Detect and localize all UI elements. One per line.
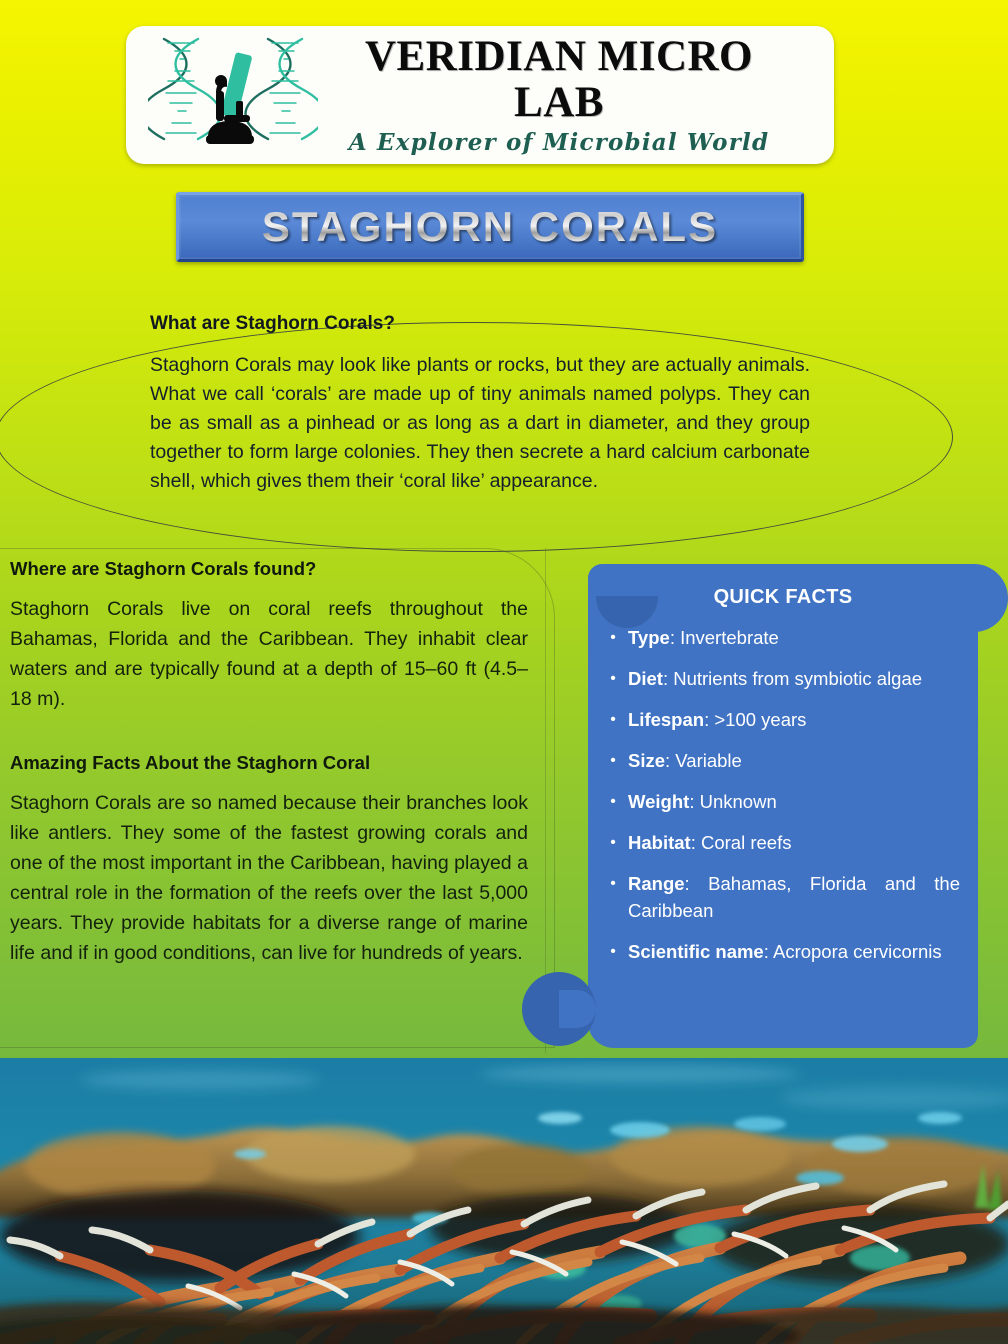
quick-fact-label: Scientific name (628, 941, 764, 962)
quick-fact-value: : >100 years (704, 709, 806, 730)
intro-body: Staghorn Corals may look like plants or … (150, 351, 810, 496)
section-body-where: Staghorn Corals live on coral reefs thro… (10, 594, 528, 714)
logo-card: VERIDIAN MICRO LAB A Explorer of Microbi… (126, 26, 834, 164)
bullet-icon: • (598, 665, 628, 692)
bullet-icon: • (598, 870, 628, 897)
quick-facts-list: •Type: Invertebrate•Diet: Nutrients from… (588, 624, 978, 979)
quick-fact-value: : Nutrients from symbiotic algae (663, 668, 922, 689)
left-content-column: Where are Staghorn Corals found? Staghor… (10, 558, 528, 968)
bullet-icon: • (598, 788, 628, 815)
quick-fact-value: : Acropora cervicornis (764, 941, 942, 962)
section-body-facts: Staghorn Corals are so named because the… (10, 788, 528, 968)
bullet-icon: • (598, 624, 628, 651)
section-heading-where: Where are Staghorn Corals found? (10, 558, 528, 580)
quick-facts-title: QUICK FACTS (588, 586, 978, 609)
coral-reef-photo (0, 1058, 1008, 1344)
quick-fact-item: •Lifespan: >100 years (598, 706, 964, 733)
decorative-circle-bottom-mask (559, 990, 596, 1028)
bullet-icon: • (598, 829, 628, 856)
quick-fact-value: : Unknown (689, 791, 776, 812)
quick-fact-label: Range (628, 873, 685, 894)
page-title: STAGHORN CORALS (262, 203, 718, 251)
quick-fact-value: : Coral reefs (691, 832, 792, 853)
quick-fact-label: Lifespan (628, 709, 704, 730)
quick-fact-item: •Weight: Unknown (598, 788, 964, 815)
bullet-icon: • (598, 706, 628, 733)
quick-fact-text: Diet: Nutrients from symbiotic algae (628, 665, 964, 692)
quick-fact-text: Habitat: Coral reefs (628, 829, 964, 856)
bullet-icon: • (598, 938, 628, 965)
quick-fact-item: •Range: Bahamas, Florida and the Caribbe… (598, 870, 964, 924)
quick-fact-value: : Invertebrate (670, 627, 779, 648)
quick-fact-item: •Size: Variable (598, 747, 964, 774)
quick-fact-text: Scientific name: Acropora cervicornis (628, 938, 964, 965)
quick-fact-label: Weight (628, 791, 689, 812)
quick-fact-label: Habitat (628, 832, 691, 853)
quick-fact-label: Diet (628, 668, 663, 689)
quick-fact-text: Weight: Unknown (628, 788, 964, 815)
brand-name: VERIDIAN MICRO LAB (318, 34, 800, 124)
brand-text-block: VERIDIAN MICRO LAB A Explorer of Microbi… (318, 34, 834, 155)
bullet-icon: • (598, 747, 628, 774)
quick-fact-item: •Habitat: Coral reefs (598, 829, 964, 856)
quick-fact-item: •Scientific name: Acropora cervicornis (598, 938, 964, 965)
quick-fact-value: : Variable (665, 750, 742, 771)
section-spacer (10, 714, 528, 752)
quick-fact-text: Range: Bahamas, Florida and the Caribbea… (628, 870, 964, 924)
quick-fact-label: Type (628, 627, 670, 648)
quick-fact-item: •Diet: Nutrients from symbiotic algae (598, 665, 964, 692)
dna-microscope-icon (148, 31, 318, 159)
brand-tagline: A Explorer of Microbial World (318, 129, 800, 156)
quick-fact-item: •Type: Invertebrate (598, 624, 964, 651)
quick-fact-text: Type: Invertebrate (628, 624, 964, 651)
quick-fact-text: Lifespan: >100 years (628, 706, 964, 733)
intro-block: What are Staghorn Corals? Staghorn Coral… (150, 313, 810, 496)
intro-heading: What are Staghorn Corals? (150, 313, 810, 335)
page-title-banner: STAGHORN CORALS (176, 192, 804, 262)
quick-fact-text: Size: Variable (628, 747, 964, 774)
quick-fact-label: Size (628, 750, 665, 771)
section-heading-facts: Amazing Facts About the Staghorn Coral (10, 752, 528, 774)
